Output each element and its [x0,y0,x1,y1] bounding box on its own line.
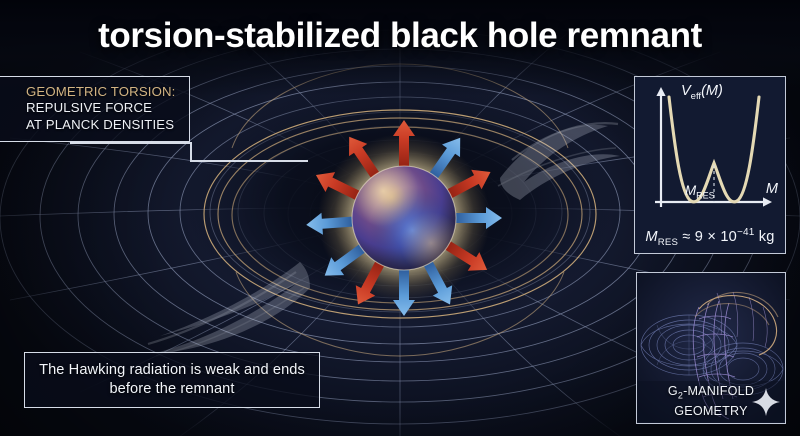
page-title: torsion-stabilized black hole remnant [0,16,800,56]
infographic-canvas: torsion-stabilized black hole remnant GE… [0,0,800,436]
leader-line-vertical [190,142,192,162]
inset-effective-potential-chart: Veff(M) M MRES MRES ≈ 9 × 10−41 kg [634,76,786,254]
chart-formula-mres: MRES ≈ 9 × 10−41 kg [635,227,785,248]
leader-line-horizontal-bottom [190,160,308,162]
leader-line-horizontal-top [70,142,192,144]
callout-hawking-text: The Hawking radiation is weak and ends b… [39,361,305,399]
double-well-plot [635,77,784,252]
inset-g2-manifold: G2-MANIFOLD GEOMETRY [636,272,786,424]
callout-line-1: GEOMETRIC TORSION: [26,84,179,100]
callout-geometric-torsion: GEOMETRIC TORSION: REPULSIVE FORCE AT PL… [0,76,190,142]
callout-line-3: AT PLANCK DENSITIES [26,117,179,133]
callout-hawking-radiation: The Hawking radiation is weak and ends b… [24,352,320,408]
callout-line-2: REPULSIVE FORCE [26,100,179,116]
sparkle-diamond-icon [751,387,781,417]
